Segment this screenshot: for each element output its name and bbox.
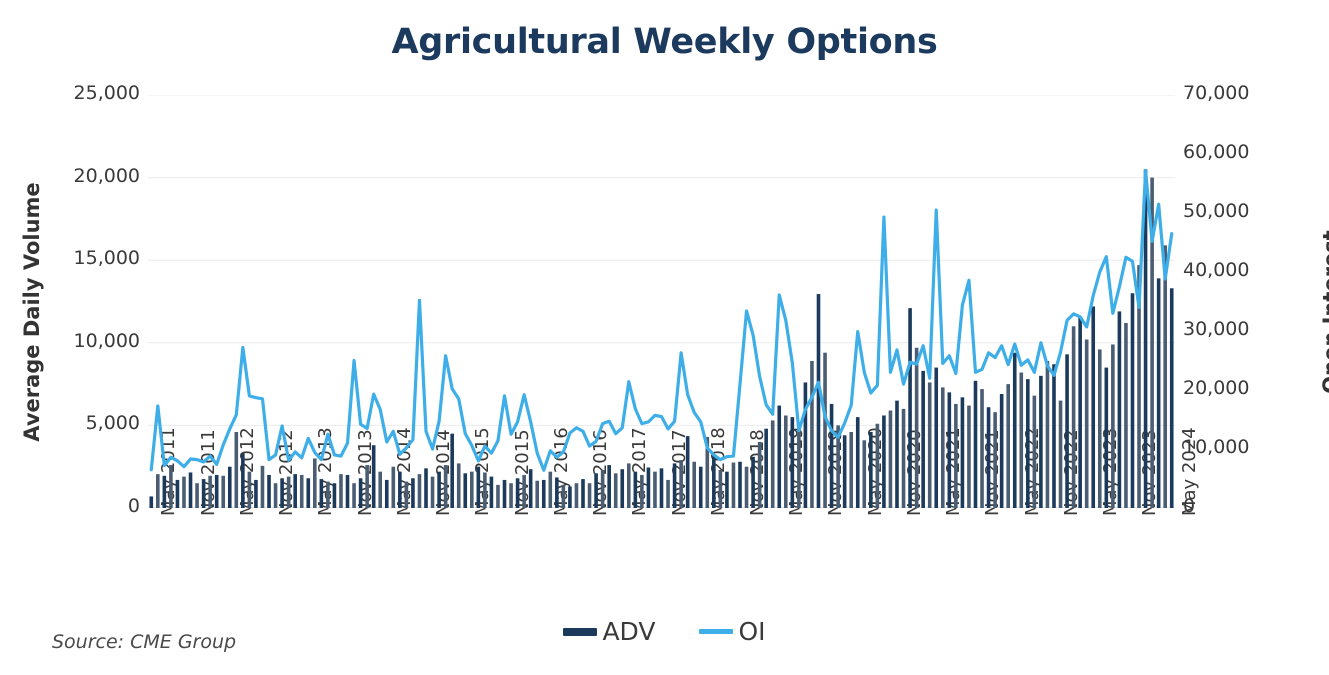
y-axis-left-tick-label: 20,000 (0, 165, 140, 187)
adv-bar (568, 487, 572, 508)
adv-swatch-icon (563, 628, 597, 636)
y-axis-left-tick-label: 10,000 (0, 330, 140, 352)
adv-bar (954, 404, 958, 508)
adv-bar (359, 478, 363, 508)
y-axis-right-tick-label: 20,000 (1183, 377, 1329, 399)
adv-bar (843, 435, 847, 508)
adv-bar (182, 477, 186, 508)
adv-bar (614, 473, 618, 508)
adv-bar (483, 472, 487, 508)
adv-bar (1013, 353, 1017, 508)
adv-bar (477, 467, 481, 508)
adv-bar (1046, 361, 1050, 508)
adv-bar (411, 478, 415, 508)
adv-bar (1059, 401, 1063, 508)
adv-bar (804, 382, 808, 508)
adv-bar (1039, 376, 1043, 508)
adv-bar (405, 482, 409, 508)
adv-bar (1111, 344, 1115, 508)
adv-bar (306, 478, 310, 508)
adv-bar (660, 468, 664, 508)
adv-bar (928, 382, 932, 508)
adv-bar (915, 348, 919, 508)
adv-bar (745, 467, 749, 508)
oi-swatch-icon (699, 629, 733, 634)
adv-bar (300, 475, 304, 508)
adv-bar (738, 462, 742, 508)
legend-item-adv[interactable]: ADV (563, 617, 655, 646)
adv-bar (980, 389, 984, 508)
adv-bar (509, 483, 513, 508)
adv-bar (549, 472, 553, 508)
adv-bar (189, 472, 193, 508)
adv-bar (267, 475, 271, 508)
adv-bar (882, 415, 886, 508)
adv-bar (346, 475, 350, 508)
adv-bar (1098, 349, 1102, 508)
adv-bar (1052, 364, 1056, 508)
adv-bar (522, 475, 526, 508)
adv-bar (516, 478, 520, 508)
adv-bar (1118, 311, 1122, 508)
adv-bar (444, 465, 448, 508)
adv-bar (575, 483, 579, 508)
adv-bar (594, 473, 598, 508)
adv-bar (666, 480, 670, 508)
adv-bar (450, 434, 454, 508)
adv-bar (758, 442, 762, 508)
adv-bar (437, 472, 441, 508)
adv-bar (431, 477, 435, 508)
adv-bar (274, 483, 278, 508)
adv-bar (1131, 293, 1135, 508)
adv-bar (248, 472, 252, 508)
adv-bar (1065, 354, 1069, 508)
adv-bar (1000, 394, 1004, 508)
adv-bar (817, 294, 821, 508)
adv-bar (679, 460, 683, 508)
adv-bar (293, 474, 297, 508)
adv-bar (764, 429, 768, 508)
adv-bar (352, 483, 356, 508)
adv-bar (686, 436, 690, 508)
adv-bar (1072, 326, 1076, 508)
adv-bar (849, 432, 853, 508)
adv-bar (261, 466, 265, 508)
adv-bar (418, 474, 422, 508)
adv-bar (424, 468, 428, 508)
adv-bar (699, 467, 703, 508)
adv-bar (993, 412, 997, 508)
legend-item-oi[interactable]: OI (699, 617, 765, 646)
adv-bar (1163, 245, 1167, 508)
adv-bar (156, 474, 160, 508)
adv-bar (1170, 288, 1174, 508)
adv-bar (254, 480, 258, 508)
adv-bar (365, 465, 369, 508)
adv-bar (830, 404, 834, 508)
y-axis-right-tick-label: 30,000 (1183, 318, 1329, 340)
adv-bar (797, 422, 801, 508)
legend-label-oi: OI (738, 617, 765, 646)
adv-bar (634, 472, 638, 508)
adv-bar (712, 455, 716, 508)
adv-bar (934, 368, 938, 508)
adv-bar (627, 463, 631, 508)
adv-bar (392, 467, 396, 508)
adv-bar (921, 371, 925, 508)
adv-bar (503, 480, 507, 508)
adv-bar (673, 463, 677, 508)
adv-bar (895, 401, 899, 508)
adv-bar (163, 476, 167, 508)
adv-bar (1019, 373, 1023, 508)
y-axis-right-tick-label: 50,000 (1183, 200, 1329, 222)
adv-bar (378, 472, 382, 508)
adv-bar (149, 496, 153, 508)
adv-bar (620, 469, 624, 508)
adv-bar (529, 469, 533, 508)
adv-bar (1033, 396, 1037, 508)
adv-bar (640, 475, 644, 508)
adv-bar (1105, 368, 1109, 508)
y-axis-right-tick-label: 10,000 (1183, 436, 1329, 458)
adv-bar (823, 353, 827, 508)
adv-bar (889, 411, 893, 508)
x-axis-tick-label: May 2024 (1179, 427, 1200, 516)
y-axis-right-tick-label: 60,000 (1183, 141, 1329, 163)
adv-bar (228, 467, 232, 508)
adv-bar (719, 470, 723, 508)
adv-bar (1157, 278, 1161, 508)
adv-bar (339, 474, 343, 508)
adv-bar (771, 420, 775, 508)
source-note: Source: CME Group (52, 631, 236, 653)
adv-bar (1124, 323, 1128, 508)
adv-bar (241, 453, 245, 508)
adv-bar (1026, 379, 1030, 508)
adv-bar (496, 485, 500, 508)
adv-bar (1091, 306, 1095, 508)
adv-bar (398, 472, 402, 508)
adv-bar (320, 479, 324, 508)
adv-bar (856, 417, 860, 508)
adv-bar (1085, 340, 1089, 509)
adv-bar (176, 480, 180, 508)
adv-bar (385, 480, 389, 508)
adv-bar (810, 361, 814, 508)
adv-bar (463, 473, 467, 508)
adv-bar (751, 457, 755, 508)
adv-bar (235, 432, 239, 508)
y-axis-left-tick-label: 15,000 (0, 247, 140, 269)
y-axis-left-tick-label: 5,000 (0, 412, 140, 434)
adv-bar (732, 463, 736, 508)
chart-canvas (148, 95, 1175, 508)
adv-bar (862, 440, 866, 508)
adv-bar (791, 417, 795, 508)
y-axis-left-tick-label: 0 (0, 495, 140, 517)
adv-bar (607, 465, 611, 508)
adv-bar (777, 406, 781, 508)
adv-bar (542, 480, 546, 508)
adv-bar (280, 478, 284, 508)
adv-bar (333, 483, 337, 508)
adv-bar (313, 458, 317, 508)
adv-bar (876, 424, 880, 508)
adv-bar (974, 381, 978, 508)
adv-bar (692, 462, 696, 508)
adv-bar (908, 308, 912, 508)
adv-bar (784, 415, 788, 508)
adv-bar (967, 406, 971, 508)
adv-bar (169, 465, 173, 508)
adv-bar (490, 477, 494, 508)
adv-bar (725, 472, 729, 508)
adv-bar (987, 407, 991, 508)
adv-bar (647, 468, 651, 508)
adv-bar (221, 476, 225, 508)
adv-bar (195, 483, 199, 508)
adv-bar (1006, 384, 1010, 508)
legend-label-adv: ADV (602, 617, 655, 646)
adv-bar (961, 397, 965, 508)
adv-bar (535, 481, 539, 508)
adv-bar (588, 483, 592, 508)
adv-bar (372, 445, 376, 508)
adv-bar (562, 485, 566, 508)
adv-bar (902, 409, 906, 508)
adv-bar (287, 477, 291, 508)
adv-bar (326, 482, 330, 508)
adv-bar (948, 392, 952, 508)
adv-bar (1078, 316, 1082, 508)
adv-bar (457, 463, 461, 508)
y-axis-left-tick-label: 25,000 (0, 82, 140, 104)
y-axis-right-tick-label: 70,000 (1183, 82, 1329, 104)
adv-bar (215, 475, 219, 508)
adv-bar (869, 432, 873, 508)
chart-container: Agricultural Weekly Options Average Dail… (0, 0, 1329, 675)
adv-bar (941, 387, 945, 508)
adv-bar (208, 476, 212, 508)
adv-bar (470, 472, 474, 508)
plot-area (148, 95, 1175, 508)
adv-bar (202, 479, 206, 508)
page-title: Agricultural Weekly Options (0, 22, 1329, 62)
y-axis-right-tick-label: 0 (1183, 495, 1329, 517)
adv-bar (601, 470, 605, 508)
y-axis-right-tick-label: 40,000 (1183, 259, 1329, 281)
adv-bar (581, 479, 585, 508)
adv-bar (653, 472, 657, 508)
adv-bar (555, 477, 559, 508)
